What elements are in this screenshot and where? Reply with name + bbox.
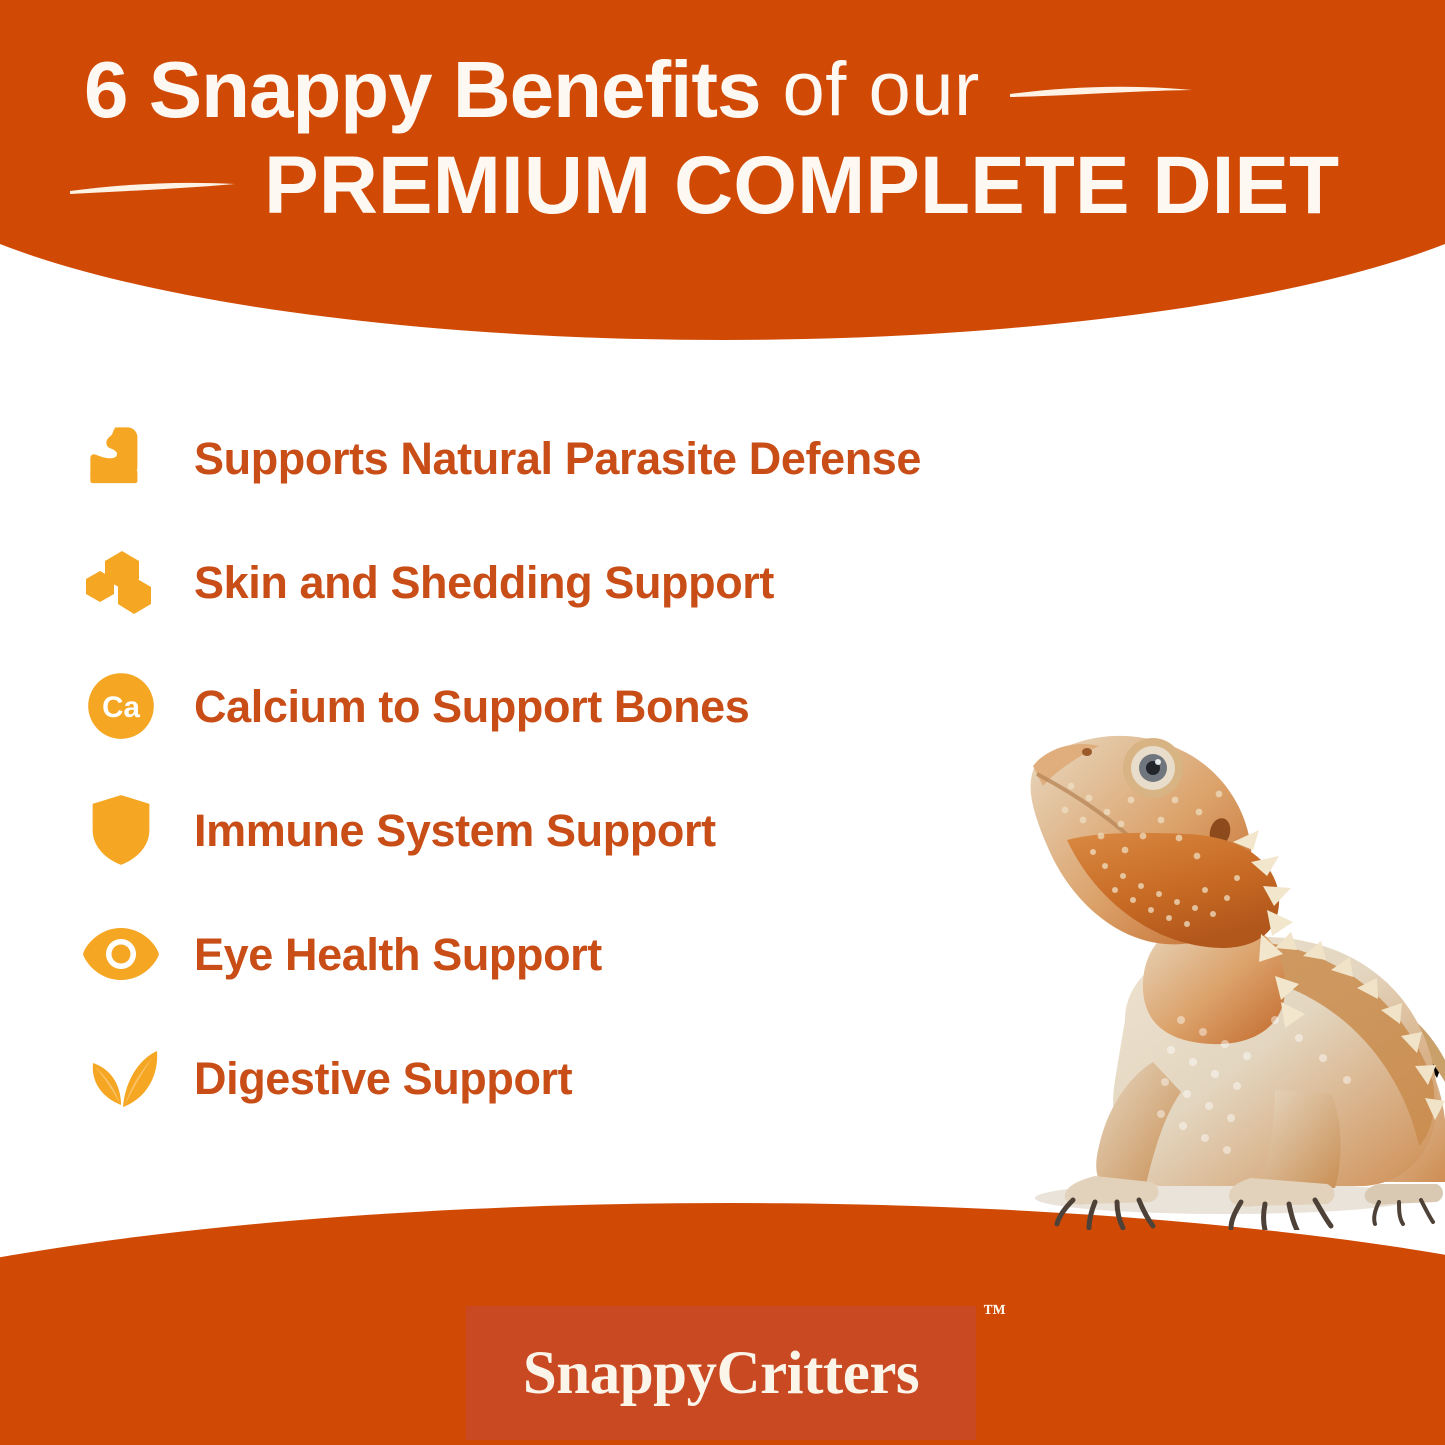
benefit-label: Supports Natural Parasite Defense: [194, 436, 921, 481]
benefit-row: Eye Health Support: [0, 892, 900, 1016]
benefit-label: Eye Health Support: [194, 932, 602, 977]
header-title-light: of our: [783, 52, 980, 128]
infographic-poster: 6 Snappy Benefits of our PREMIUM COMPLET…: [0, 0, 1445, 1445]
benefit-row: Ca Calcium to Support Bones: [0, 644, 900, 768]
dash-stroke-right-icon: [1006, 75, 1196, 106]
bearded-dragon-photo: [975, 690, 1445, 1230]
brand-logo-text: SnappyCritters: [523, 1343, 919, 1404]
flexed-bicep-icon: [82, 423, 160, 493]
benefit-label: Digestive Support: [194, 1056, 572, 1101]
calcium-ca-circle-icon: Ca: [82, 671, 160, 741]
trademark-symbol: ™: [983, 1300, 1006, 1326]
header-content: 6 Snappy Benefits of our PREMIUM COMPLET…: [0, 0, 1445, 255]
dash-stroke-left-icon: [68, 171, 238, 202]
benefits-list: Supports Natural Parasite Defense Skin a…: [0, 396, 900, 1140]
benefit-row: Immune System Support: [0, 768, 900, 892]
svg-text:Ca: Ca: [102, 691, 140, 724]
header-title-strong: 6 Snappy Benefits: [84, 50, 761, 130]
brand-logo-block[interactable]: SnappyCritters ™: [466, 1306, 976, 1440]
benefit-row: Skin and Shedding Support: [0, 520, 900, 644]
eye-icon: [82, 926, 160, 982]
benefit-label: Immune System Support: [194, 808, 716, 853]
header-line-2: PREMIUM COMPLETE DIET: [0, 138, 1445, 234]
header-subtitle-caps: PREMIUM COMPLETE DIET: [264, 145, 1339, 227]
benefit-row: Digestive Support: [0, 1016, 900, 1140]
honeycomb-icon: [82, 549, 160, 615]
shield-icon: [82, 794, 160, 866]
header-line-1: 6 Snappy Benefits of our: [0, 42, 1445, 138]
benefit-row: Supports Natural Parasite Defense: [0, 396, 900, 520]
benefit-label: Calcium to Support Bones: [194, 684, 749, 729]
benefit-label: Skin and Shedding Support: [194, 560, 774, 605]
leaves-icon: [82, 1047, 160, 1109]
